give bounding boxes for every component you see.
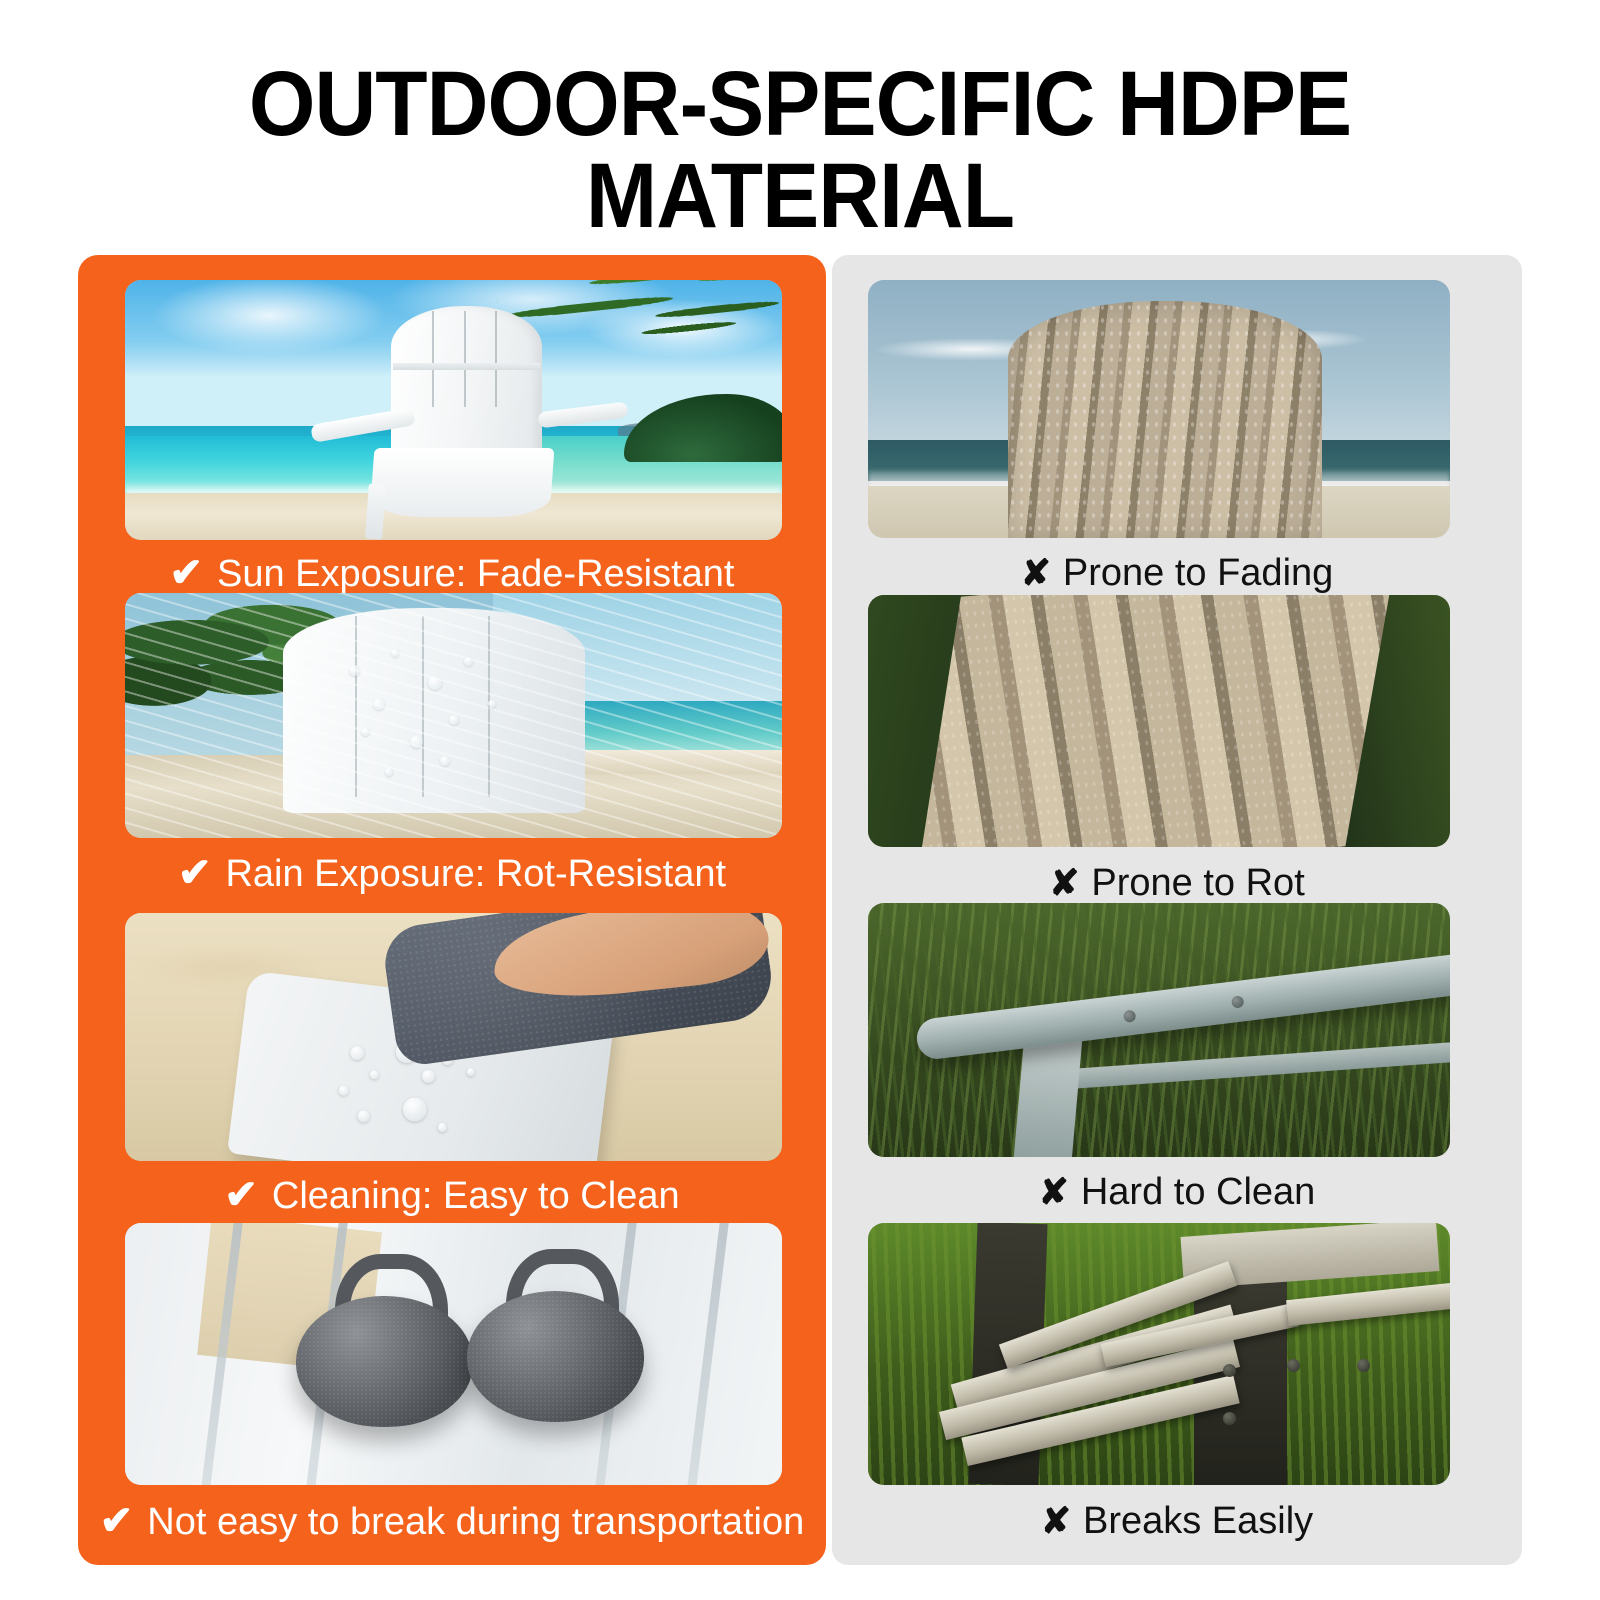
- photo-rain-exposure: [125, 593, 782, 838]
- kettlebell-right: [467, 1249, 644, 1422]
- check-icon: ✔: [178, 853, 212, 893]
- cross-icon: ✘: [1041, 1503, 1071, 1539]
- disadvantage-item-4: ✘Breaks Easily: [832, 1205, 1522, 1565]
- kettlebell-left: [296, 1254, 473, 1427]
- advantage-label-4: Not easy to break during transportation: [147, 1503, 804, 1541]
- disadvantage-caption-4: ✘Breaks Easily: [832, 1502, 1522, 1540]
- advantage-item-1: ✔Sun Exposure: Fade-Resistant: [78, 255, 826, 585]
- hdpe-chair-graphic: [348, 306, 585, 535]
- rain-overlay: [125, 593, 782, 838]
- page-title: OUTDOOR-SPECIFIC HDPE MATERIAL: [56, 58, 1544, 242]
- disadvantages-panel: ✘Prone to Fading ✘Prone to Rot: [832, 255, 1522, 1565]
- photo-breaks-easily: [868, 1223, 1450, 1485]
- photo-prone-to-fading: [868, 280, 1450, 538]
- advantage-caption-4: ✔Not easy to break during transportation: [78, 1501, 826, 1541]
- photo-transport-durability: [125, 1223, 782, 1485]
- disadvantage-item-3: ✘Hard to Clean: [832, 895, 1522, 1205]
- advantage-caption-2: ✔Rain Exposure: Rot-Resistant: [78, 853, 826, 893]
- advantage-item-4: ✔Not easy to break during transportation: [78, 1205, 826, 1565]
- photo-hard-to-clean: [868, 903, 1450, 1157]
- photo-sun-exposure: [125, 280, 782, 540]
- disadvantage-item-2: ✘Prone to Rot: [832, 585, 1522, 895]
- disadvantage-label-4: Breaks Easily: [1083, 1502, 1313, 1540]
- advantage-item-2: ✔Rain Exposure: Rot-Resistant: [78, 585, 826, 895]
- disadvantage-item-1: ✘Prone to Fading: [832, 255, 1522, 585]
- advantage-label-2: Rain Exposure: Rot-Resistant: [225, 855, 726, 893]
- photo-prone-to-rot: [868, 595, 1450, 847]
- advantages-panel: ✔Sun Exposure: Fade-Resistant: [78, 255, 826, 1565]
- infographic-root: OUTDOOR-SPECIFIC HDPE MATERIAL Resistant…: [0, 0, 1600, 1600]
- photo-cleaning: [125, 913, 782, 1161]
- check-icon: ✔: [100, 1501, 134, 1541]
- advantage-item-3: ✔Cleaning: Easy to Clean: [78, 895, 826, 1205]
